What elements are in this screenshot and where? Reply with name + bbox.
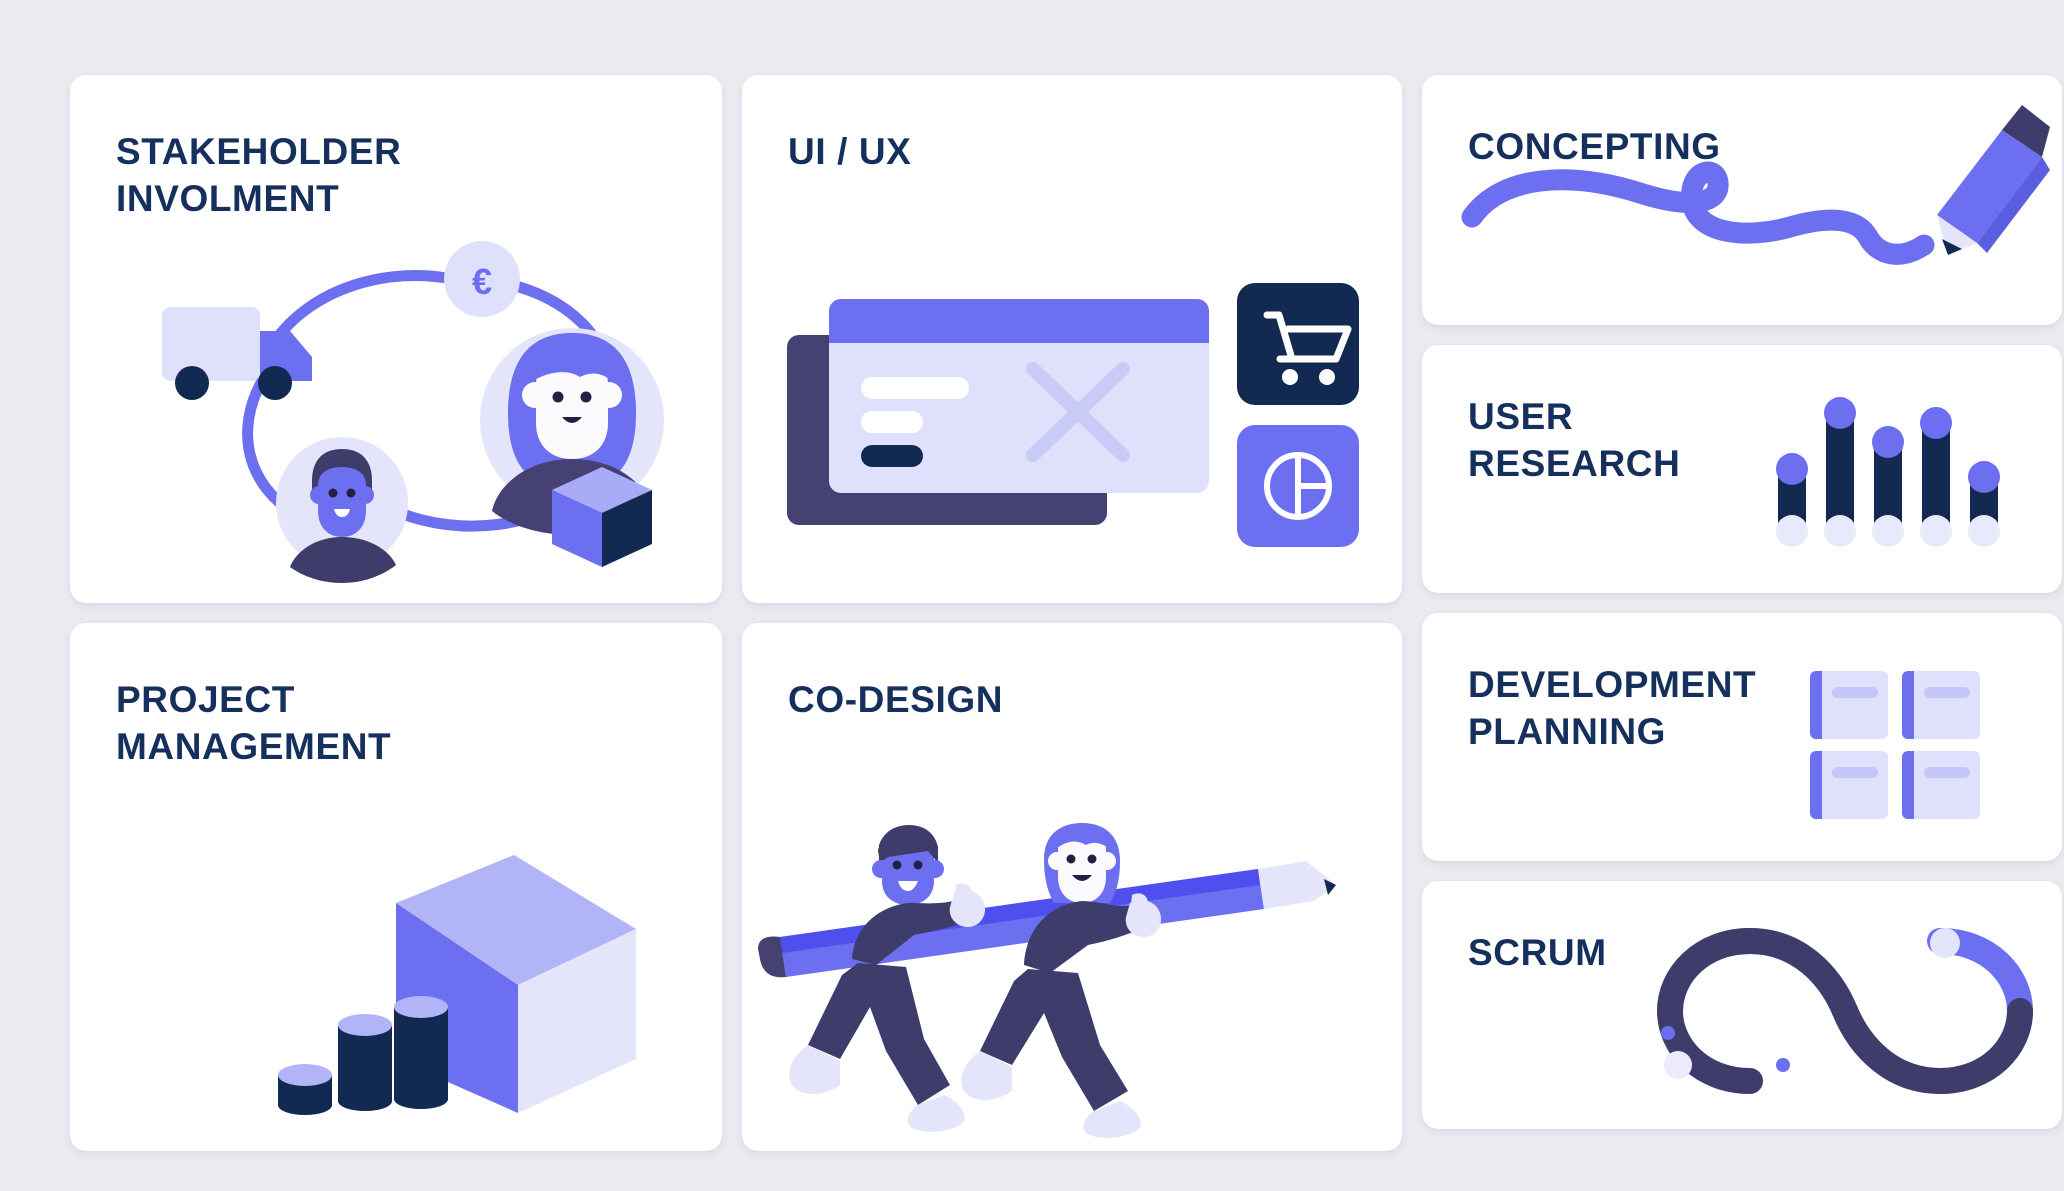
kanban-card-3: [1810, 751, 1888, 819]
bar-3-cap-bottom: [1872, 515, 1904, 547]
bar-4-cap-bottom: [1920, 515, 1952, 547]
bar-1: [1776, 453, 1808, 547]
card-scrum[interactable]: SCRUM: [1422, 881, 2062, 1129]
arc-truck-to-euro: [272, 275, 452, 345]
card-title-project-management: PROJECT MANAGEMENT: [116, 676, 391, 771]
pencil-squiggle-illustration: [1450, 97, 2060, 317]
content-line-2: [861, 411, 923, 433]
card-ui-ux[interactable]: UI / UX: [742, 75, 1402, 603]
kanban-grid-illustration: [1810, 671, 2030, 821]
card-title-ui-ux: UI / UX: [788, 128, 911, 175]
dot-purple-small: [1661, 1026, 1675, 1040]
card-user-research[interactable]: USER RESEARCH: [1422, 345, 2062, 593]
card-title-scrum: SCRUM: [1468, 929, 1607, 976]
isometric-box-illustration: [268, 843, 688, 1133]
stakeholder-network-illustration: €: [152, 245, 672, 575]
card-project-management[interactable]: PROJECT MANAGEMENT: [70, 623, 722, 1151]
cylinder-medium: [338, 1014, 392, 1111]
kanban-card-2: [1902, 671, 1980, 739]
person-left: [789, 825, 985, 1132]
bar-3: [1872, 426, 1904, 547]
kanban-card-1: [1810, 671, 1888, 739]
card-stakeholder-involment[interactable]: STAKEHOLDER INVOLMENT €: [70, 75, 722, 603]
bar-3-cap-top: [1872, 426, 1904, 458]
co-design-illustration: [758, 823, 1338, 1123]
bar-5: [1968, 461, 2000, 547]
window-title-bar: [829, 299, 1209, 343]
card-co-design[interactable]: CO-DESIGN: [742, 623, 1402, 1151]
bar-2: [1824, 397, 1856, 547]
card-board: STAKEHOLDER INVOLMENT €: [0, 0, 2064, 1191]
bar-5-cap-top: [1968, 461, 2000, 493]
cylinder-small: [278, 1064, 332, 1115]
right-column: CONCEPTING USER RESEARCH: [1422, 75, 2062, 1151]
infinity-strand-navy: [1670, 941, 2020, 1081]
bar-chart-illustration: [1770, 397, 2040, 557]
card-title-development-planning: DEVELOPMENT PLANNING: [1468, 661, 1756, 756]
bar-4: [1920, 407, 1952, 547]
squiggle-stroke: [1472, 172, 1924, 254]
card-title-user-research: USER RESEARCH: [1468, 393, 1680, 488]
card-concepting[interactable]: CONCEPTING: [1422, 75, 2062, 325]
pencil-icon: [1937, 105, 2050, 255]
kanban-card-4: [1902, 751, 1980, 819]
bar-2-cap-bottom: [1824, 515, 1856, 547]
bar-5-cap-bottom: [1968, 515, 2000, 547]
person-right: [961, 823, 1161, 1138]
avatar-man: [276, 437, 408, 583]
card-title-co-design: CO-DESIGN: [788, 676, 1003, 723]
card-development-planning[interactable]: DEVELOPMENT PLANNING: [1422, 613, 2062, 861]
dot-purple-mid: [1776, 1058, 1790, 1072]
ui-ux-illustration: [787, 283, 1367, 573]
dot-pale-left: [1664, 1051, 1692, 1079]
dot-pale-top: [1930, 928, 1960, 958]
bar-1-cap-top: [1776, 453, 1808, 485]
content-line-1: [861, 377, 969, 399]
bar-4-cap-top: [1920, 407, 1952, 439]
pie-chart-tile: [1237, 425, 1359, 547]
bar-2-cap-top: [1824, 397, 1856, 429]
card-title-stakeholder: STAKEHOLDER INVOLMENT: [116, 128, 401, 223]
shopping-cart-tile: [1237, 283, 1359, 405]
infinity-loop-illustration: [1650, 913, 2040, 1103]
bar-1-cap-bottom: [1776, 515, 1808, 547]
browser-window-mockup: [829, 299, 1209, 493]
euro-symbol: €: [472, 261, 492, 302]
content-button: [861, 445, 923, 467]
cylinder-large: [394, 996, 448, 1109]
